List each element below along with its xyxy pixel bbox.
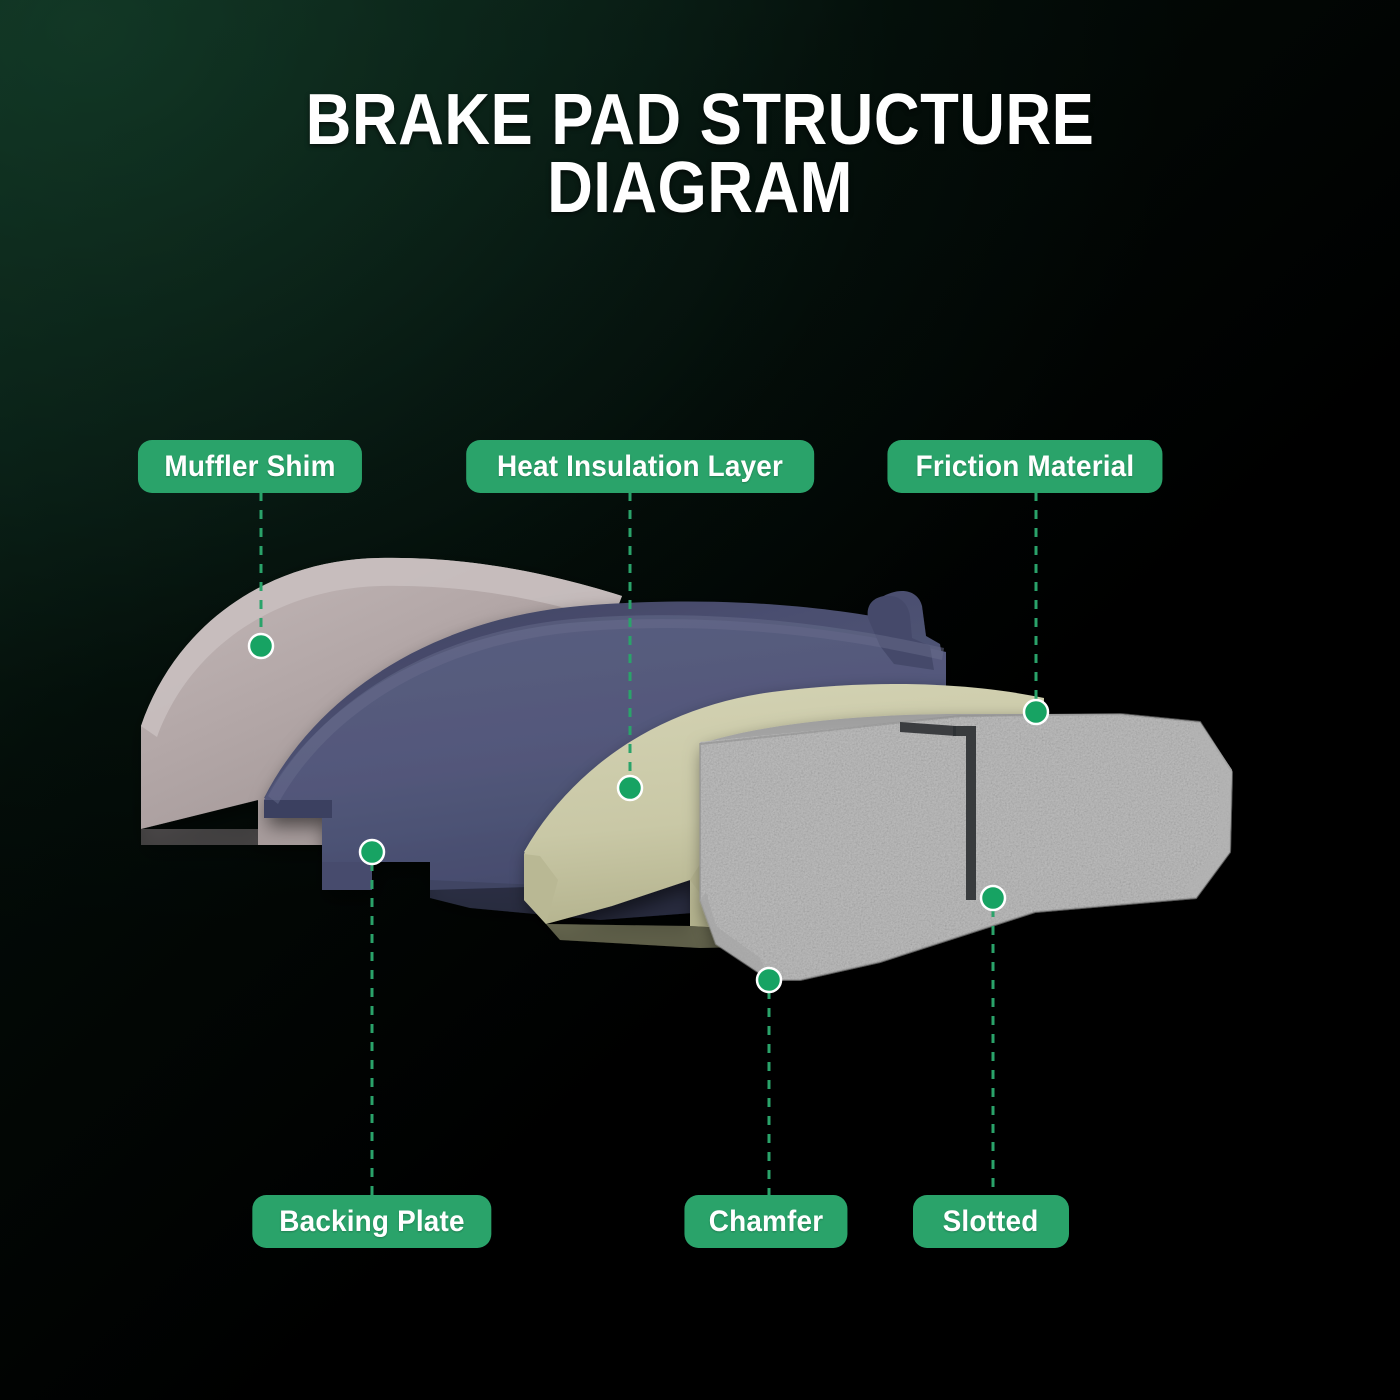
- callout-badge-backing-plate[interactable]: Backing Plate: [252, 1195, 491, 1248]
- callout-badge-heat-insulation-layer[interactable]: Heat Insulation Layer: [466, 440, 814, 493]
- diagram-canvas: BRAKE PAD STRUCTURE DIAGRAM: [0, 0, 1400, 1400]
- callout-badge-slotted[interactable]: Slotted: [913, 1195, 1069, 1248]
- callout-badge-label-slotted: Slotted: [943, 1205, 1039, 1239]
- callout-badge-label-chamfer: Chamfer: [709, 1205, 823, 1239]
- callout-badge-muffler-shim[interactable]: Muffler Shim: [138, 440, 362, 493]
- layer-friction-material: [690, 706, 1245, 995]
- brake-pad-exploded-illustration: [0, 0, 1400, 1400]
- callout-dot-friction-material[interactable]: [1024, 700, 1048, 724]
- callout-badge-label-muffler-shim: Muffler Shim: [164, 450, 335, 484]
- callout-badge-label-friction-material: Friction Material: [916, 450, 1135, 484]
- callout-dot-heat-insulation-layer[interactable]: [618, 776, 642, 800]
- callout-badge-chamfer[interactable]: Chamfer: [684, 1195, 847, 1248]
- callout-badge-label-heat-insulation-layer: Heat Insulation Layer: [497, 450, 783, 484]
- callout-dot-backing-plate[interactable]: [360, 840, 384, 864]
- callout-badge-label-backing-plate: Backing Plate: [279, 1205, 464, 1239]
- callout-dot-slotted[interactable]: [981, 886, 1005, 910]
- callout-dot-muffler-shim[interactable]: [249, 634, 273, 658]
- callout-dot-chamfer[interactable]: [757, 968, 781, 992]
- callout-badge-friction-material[interactable]: Friction Material: [887, 440, 1162, 493]
